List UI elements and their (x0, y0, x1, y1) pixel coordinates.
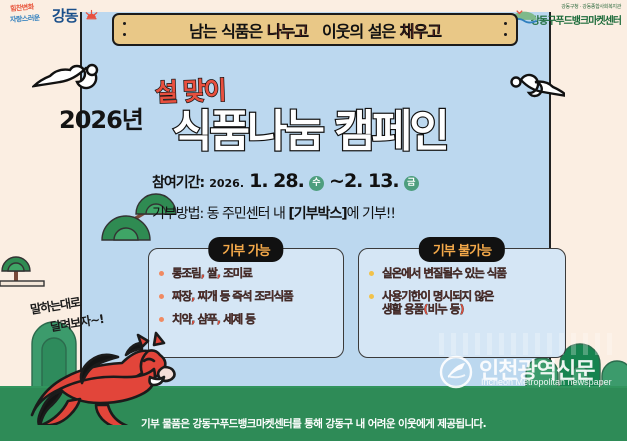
top-banner: 남는 식품은 나누고이웃의 설은 채우고 (112, 13, 518, 46)
method-suffix: 에 기부!! (347, 206, 395, 222)
gangdong-logo-hand2: 자랑스러운 (10, 13, 40, 25)
pen-circle-icon (439, 355, 473, 389)
period-year: 2026. (209, 177, 244, 190)
list-item-line2: 생활 용품(비누 등) (382, 303, 565, 316)
list-item: 실온에서 변질될수 있는 식품 (369, 267, 565, 280)
list-item-line1: 사용기한이 명시되지 않은 (382, 289, 493, 303)
banner-part2: 이웃의 설은 (322, 22, 400, 41)
list-item: 짜장, 찌개 등 즉석 조리식품 (159, 290, 343, 303)
banner-highlight1: 나누고 (267, 22, 308, 41)
banner-part1: 남는 식품은 (189, 22, 267, 41)
watermark-bars (439, 333, 617, 355)
box-not-allowed-title: 기부 불가능 (419, 237, 505, 262)
list-item: 통조림, 쌀, 조미료 (159, 267, 343, 280)
cloud-decoration-left (32, 58, 116, 102)
cloud-decoration-right (505, 68, 565, 112)
donation-method: 기부방법: 동 주민센터 내 [기부박스]에 기부!! (152, 203, 395, 223)
participation-period: 참여기간: 2026. 1. 28. 수 ~2. 13. 금 (152, 170, 419, 192)
period-end-day-badge: 금 (404, 176, 419, 191)
poster-root: 힘찬변화 자랑스러운 강동 강동구청 · 강동종합사회복지관 강동구푸드뱅크마켓… (0, 0, 627, 441)
banner-dots-left (123, 22, 126, 36)
period-end-date: 2. 13. (344, 170, 399, 192)
banner-text: 남는 식품은 나누고이웃의 설은 채우고 (189, 18, 441, 42)
period-tilde: ~ (329, 170, 344, 192)
gangdong-logo-name: 강동 (52, 5, 78, 26)
foodbank-logo: 강동구청 · 강동종합사회복지관 강동구푸드뱅크마켓센터 (509, 4, 621, 34)
newspaper-watermark: 인천광역신문 Incheon Metropolitan newspaper (437, 353, 617, 393)
running-horse-illustration (22, 325, 207, 425)
title-year: 2026년 (59, 100, 143, 135)
banner-dots-right (504, 22, 507, 36)
list-item: 사용기한이 명시되지 않은 생활 용품(비누 등) (369, 290, 565, 316)
gangdong-logo: 힘찬변화 자랑스러운 강동 (8, 3, 100, 31)
box-allowed-title: 기부 가능 (208, 237, 283, 262)
gangdong-logo-hand1: 힘찬변화 (10, 2, 35, 14)
period-start-date: 1. 28. (249, 170, 304, 192)
method-bold: [기부박스] (288, 206, 346, 222)
sun-icon (84, 8, 99, 22)
watermark-english: Incheon Metropolitan newspaper (481, 377, 612, 387)
title-main: 식품나눔 캠페인 (172, 95, 447, 159)
period-start-day-badge: 수 (309, 176, 324, 191)
method-prefix: 기부방법: 동 주민센터 내 (152, 206, 288, 222)
period-label: 참여기간: (152, 175, 204, 191)
footer-note: 기부 물품은 강동구푸드뱅크마켓센터를 통해 강동구 내 어려운 이웃에게 제공… (0, 416, 627, 431)
banner-highlight2: 채우고 (400, 22, 441, 41)
